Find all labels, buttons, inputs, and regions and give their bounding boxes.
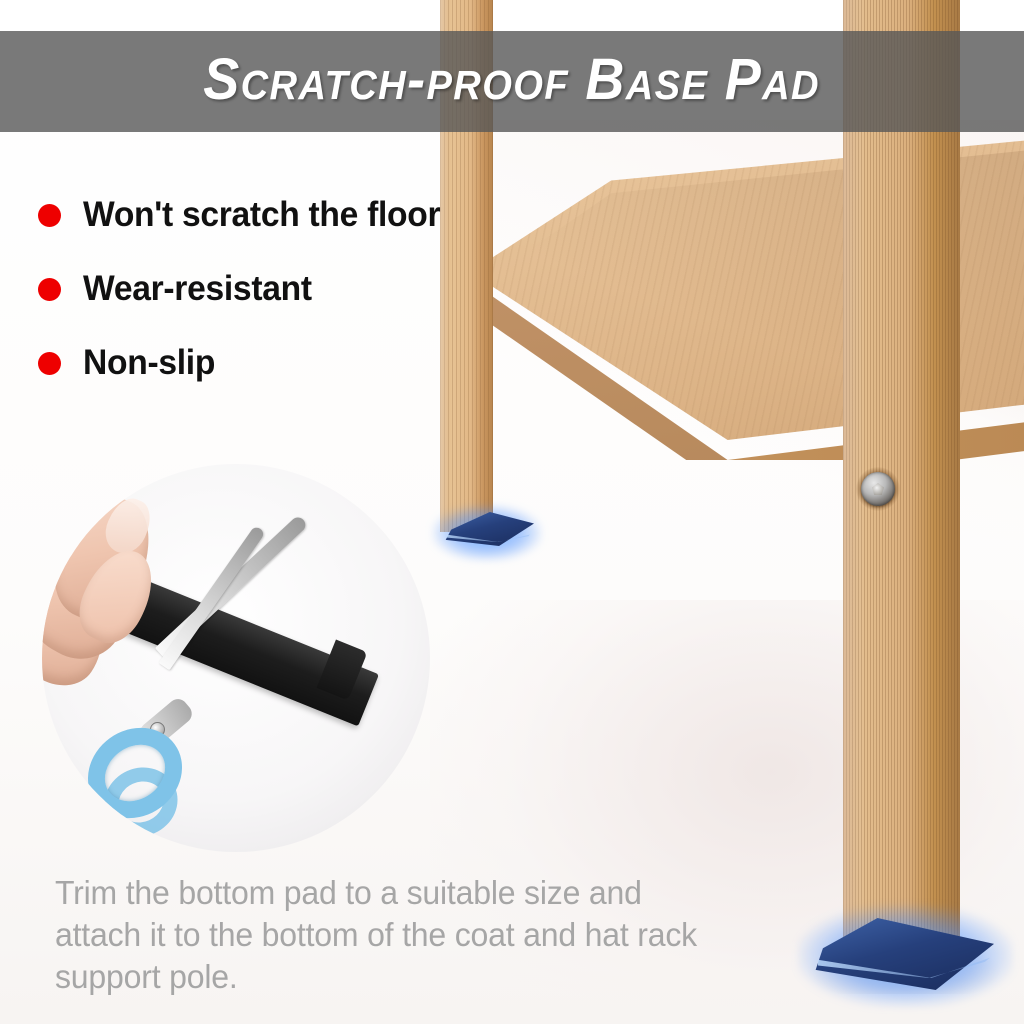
list-item: Won't scratch the floor — [38, 178, 498, 252]
metal-screw-icon — [861, 472, 895, 506]
page-title: Scratch-proof Base Pad — [204, 46, 821, 117]
inset-photo-content — [42, 464, 430, 852]
scissors-handle-ring-upper — [70, 709, 200, 836]
bullet-dot-icon — [38, 352, 61, 375]
bullet-dot-icon — [38, 204, 61, 227]
feature-label: Wear-resistant — [83, 269, 312, 309]
list-item: Wear-resistant — [38, 252, 498, 326]
instruction-caption: Trim the bottom pad to a suitable size a… — [55, 872, 734, 998]
inset-photo-trimming-pad — [42, 464, 430, 852]
feature-label: Won't scratch the floor — [83, 195, 440, 235]
title-banner: Scratch-proof Base Pad — [0, 31, 1024, 132]
list-item: Non-slip — [38, 326, 498, 400]
product-feature-image: Scratch-proof Base Pad Won't scratch the… — [0, 0, 1024, 1024]
feature-list: Won't scratch the floor Wear-resistant N… — [38, 178, 498, 400]
feature-label: Non-slip — [83, 343, 215, 383]
bullet-dot-icon — [38, 278, 61, 301]
